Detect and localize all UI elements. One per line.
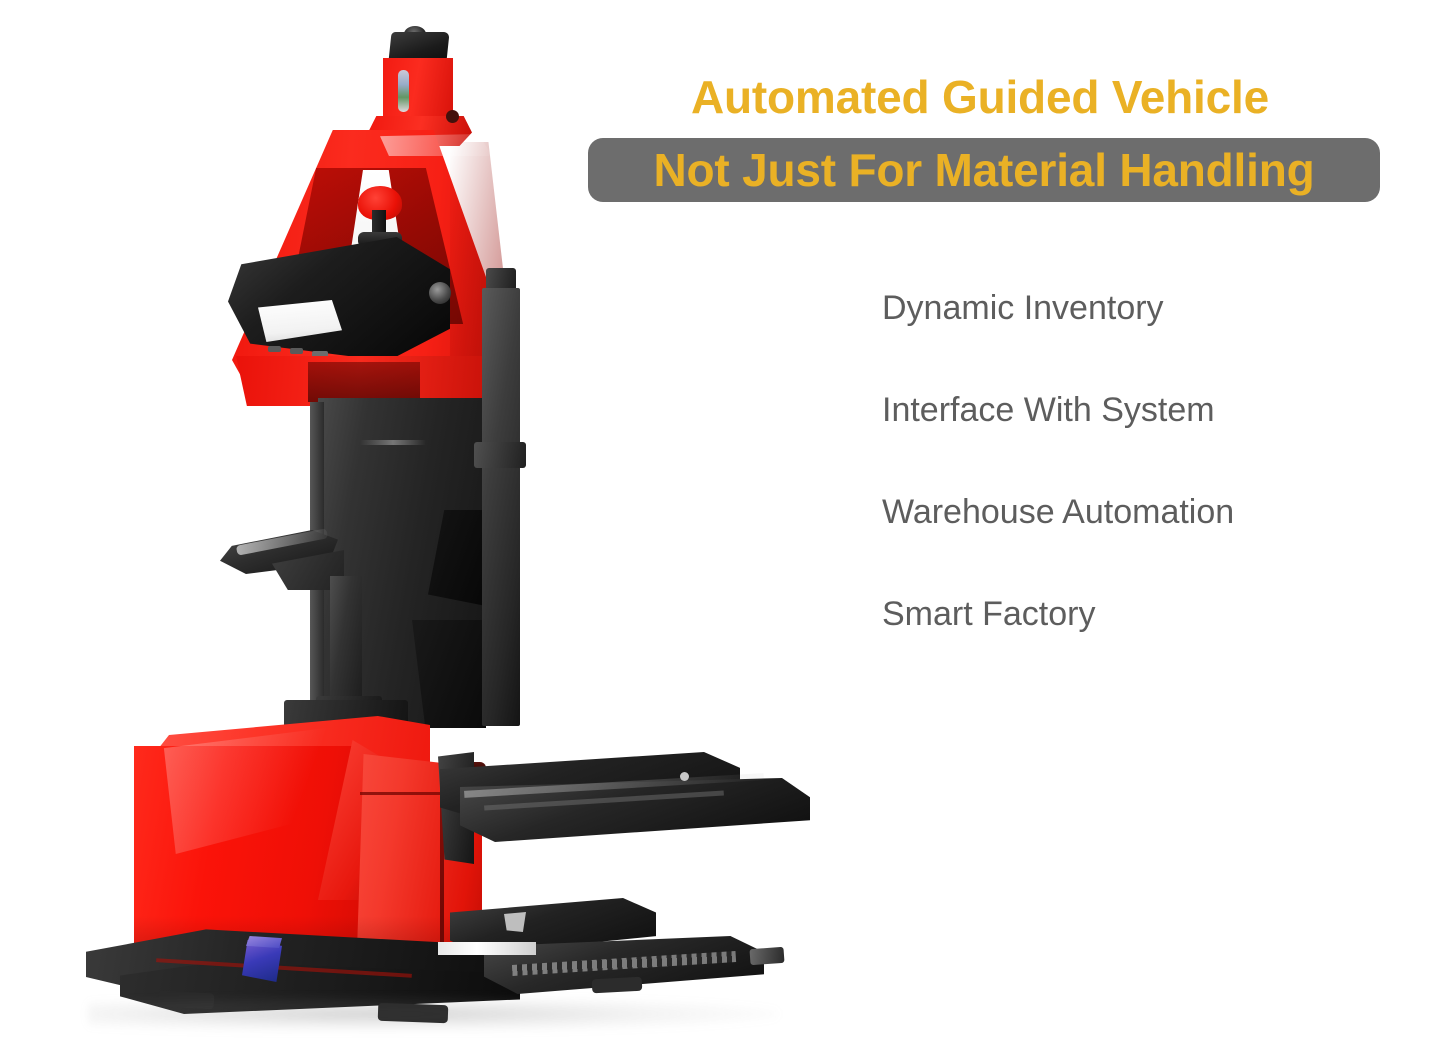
console-dial-icon — [429, 282, 451, 304]
text-column: Automated Guided Vehicle Not Just For Ma… — [560, 0, 1431, 1047]
mast-label-plate — [438, 942, 536, 955]
lidar-indicator-strip — [398, 70, 409, 112]
mast-guide-rail — [482, 288, 520, 726]
slide-canvas: Automated Guided Vehicle Not Just For Ma… — [0, 0, 1431, 1047]
console-button — [290, 348, 303, 354]
feature-item-interface-with-system: Interface With System — [882, 390, 1402, 430]
page-title-line-2: Not Just For Material Handling — [588, 138, 1380, 202]
title-banner: Not Just For Material Handling — [588, 138, 1380, 202]
lever-stem — [330, 576, 362, 706]
feature-item-dynamic-inventory: Dynamic Inventory — [882, 288, 1402, 328]
black-operator-console — [228, 237, 450, 361]
mast-seam — [360, 440, 426, 445]
leg-marker — [504, 912, 526, 932]
lidar-bolt — [446, 110, 459, 123]
canopy-skirt-notch — [308, 362, 420, 402]
feature-item-warehouse-automation: Warehouse Automation — [882, 492, 1402, 532]
mast-rail-clamp — [474, 442, 526, 468]
feature-item-smart-factory: Smart Factory — [882, 594, 1402, 634]
feature-list: Dynamic Inventory Interface With System … — [882, 288, 1402, 634]
canopy-highlight — [380, 134, 492, 156]
page-title-line-1: Automated Guided Vehicle — [560, 68, 1400, 126]
console-button — [268, 346, 281, 352]
